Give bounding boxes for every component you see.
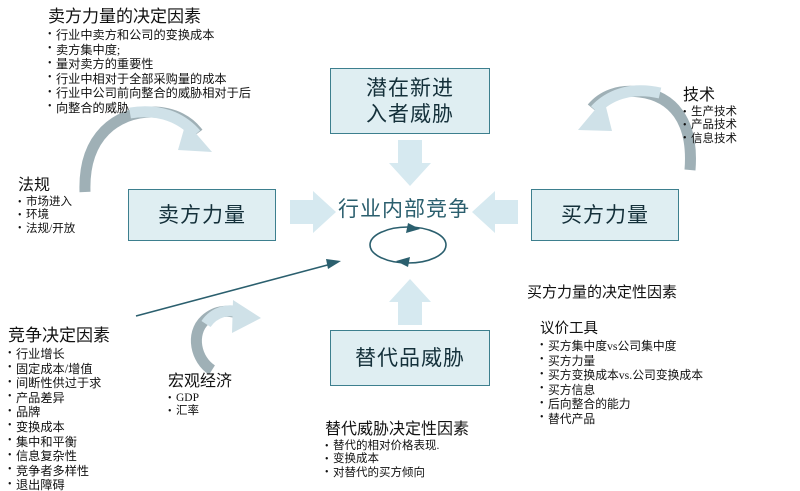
list-item: 买方变换成本vs.公司变换成本 [540,368,703,383]
box-new-entrants-label: 潜在新进 入者威胁 [366,75,454,127]
list-item: 法规/开放 [18,223,75,236]
list-item: 买方集中度vs公司集中度 [540,339,703,354]
buyer-determinants-title: 买方力量的决定性因素 [527,281,677,302]
list-item: 汇率 [168,405,232,418]
arrow-down-icon [389,140,431,186]
list-item: 信息技术 [683,133,737,146]
list-item: 信息复杂性 [8,449,110,464]
center-rivalry-label: 行业内部竞争 [338,196,470,222]
technology-list: 生产技术 产品技术 信息技术 [683,106,737,146]
buyer-determinants-block: 议价工具 买方集中度vs公司集中度 买方力量 买方变换成本vs.公司变换成本 买… [540,320,703,427]
list-item: 行业增长 [8,347,110,362]
list-item: 买方力量 [540,354,703,369]
supplier-determinants-list: 行业中卖方和公司的变换成本 卖方集中度; 量对卖方的重要性 行业中相对于全部采购… [48,28,251,116]
list-item: 行业中公司前向整合的威胁相对于后 [48,86,251,101]
curved-arrow-bottom-left-icon [196,300,261,370]
box-substitutes[interactable]: 替代品威胁 [330,330,490,386]
arrow-right-icon [290,191,336,233]
technology-heading: 技术 [683,86,737,105]
curved-arrow-top-right-icon [578,91,690,170]
list-item: 品牌 [8,405,110,420]
list-item: 产品技术 [683,119,737,132]
list-item: 集中和平衡 [8,435,110,450]
competition-determinants-heading: 竞争决定因素 [8,325,110,346]
regulation-heading: 法规 [18,176,75,195]
buyer-determinants-list: 买方集中度vs公司集中度 买方力量 买方变换成本vs.公司变换成本 买方信息 后… [540,339,703,427]
diagram-canvas: 潜在新进 入者威胁 卖方力量 买方力量 替代品威胁 行业内部竞争 卖方力量的决定… [0,0,800,491]
list-item: 产品差异 [8,391,110,406]
list-item: 竞争者多样性 [8,464,110,479]
box-new-entrants[interactable]: 潜在新进 入者威胁 [330,68,490,134]
technology-block: 技术 生产技术 产品技术 信息技术 [683,86,737,146]
list-item: 变换成本 [8,420,110,435]
box-supplier-power[interactable]: 卖方力量 [128,189,276,241]
competition-determinants-block: 竞争决定因素 行业增长 固定成本/增值 间断性供过于求 产品差异 品牌 变换成本… [8,325,110,491]
list-item: 固定成本/增值 [8,362,110,377]
curved-arrow-top-left-icon [85,112,212,192]
arrow-left-icon [472,191,518,233]
list-item: 行业中相对于全部采购量的成本 [48,72,251,87]
box-buyer-power[interactable]: 买方力量 [531,189,679,241]
list-item: 替代的相对价格表现. [325,440,469,453]
regulation-block: 法规 市场进入 环境 法规/开放 [18,176,75,236]
list-item: 变换成本 [325,453,469,466]
list-item: 退出障碍 [8,478,110,491]
regulation-list: 市场进入 环境 法规/开放 [18,196,75,236]
circular-loop-arrow-icon [370,223,446,267]
buyer-determinants-heading: 议价工具 [540,320,703,338]
substitute-determinants-block: 替代威胁决定性因素 替代的相对价格表现. 变换成本 对替代的买方倾向 [325,420,469,480]
list-item: 量对卖方的重要性 [48,57,251,72]
arrow-up-icon [389,279,431,325]
supplier-determinants-block: 卖方力量的决定因素 行业中卖方和公司的变换成本 卖方集中度; 量对卖方的重要性 … [48,6,251,116]
list-item: 替代产品 [540,412,703,427]
box-buyer-power-label: 买方力量 [561,202,649,228]
macro-economy-list: GDP 汇率 [168,392,232,419]
macro-economy-heading: 宏观经济 [168,372,232,391]
supplier-determinants-heading: 卖方力量的决定因素 [48,6,251,27]
list-item: 市场进入 [18,196,75,209]
list-item: 间断性供过于求 [8,376,110,391]
list-item: GDP [168,392,232,405]
list-item: 环境 [18,209,75,222]
box-substitutes-label: 替代品威胁 [355,345,465,371]
list-item: 卖方集中度; [48,43,251,58]
substitute-determinants-list: 替代的相对价格表现. 变换成本 对替代的买方倾向 [325,440,469,480]
list-item: 行业中卖方和公司的变换成本 [48,28,251,43]
competition-determinants-list: 行业增长 固定成本/增值 间断性供过于求 产品差异 品牌 变换成本 集中和平衡 … [8,347,110,491]
list-item: 生产技术 [683,106,737,119]
list-item: 买方信息 [540,383,703,398]
macro-economy-block: 宏观经济 GDP 汇率 [168,372,232,419]
list-item: 后向整合的能力 [540,397,703,412]
box-supplier-power-label: 卖方力量 [158,202,246,228]
substitute-determinants-heading: 替代威胁决定性因素 [325,420,469,439]
list-item: 对替代的买方倾向 [325,467,469,480]
list-item: 向整合的威胁 [48,101,251,116]
